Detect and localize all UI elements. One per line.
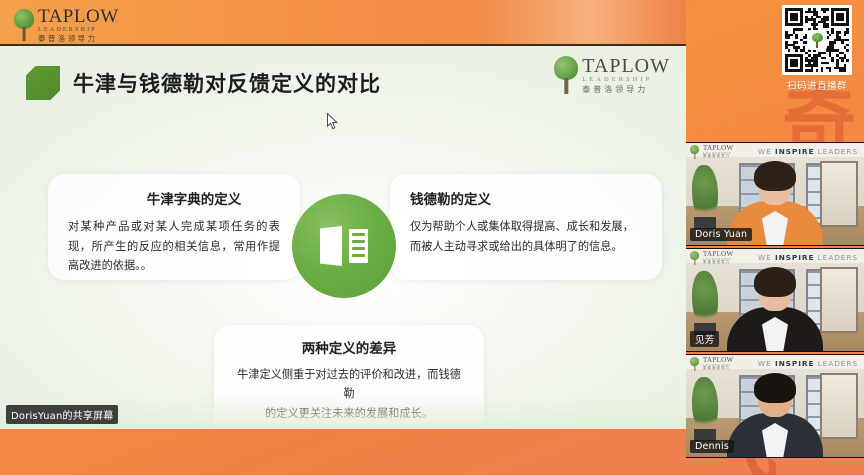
shared-screen-area[interactable]: 牛津与钱德勒对反馈定义的对比 TAPLOW LEADERSHIP 泰普洛领导力 … bbox=[0, 46, 686, 429]
brand-name-cn: 泰普洛领导力 bbox=[703, 261, 733, 264]
video-tile-dennis[interactable]: TAPLOW LEADERSHIP 泰普洛领导力 WE INSPIRE LEAD… bbox=[686, 354, 864, 458]
participant-name-label: Doris Yuan bbox=[690, 228, 752, 241]
participant-name-label: 见芳 bbox=[690, 331, 719, 347]
taplow-logo-header: TAPLOW LEADERSHIP 泰普洛领导力 bbox=[14, 7, 119, 43]
video-tagline: WE INSPIRE LEADERS bbox=[758, 359, 858, 368]
card-title: 两种定义的差异 bbox=[232, 337, 466, 357]
video-tagline: WE INSPIRE LEADERS bbox=[758, 147, 858, 156]
card-body-line: 钱德勒的定义更强调反馈的积极主动性和对个人 bbox=[232, 423, 466, 429]
tree-icon bbox=[690, 251, 699, 265]
participant-video-strip[interactable]: TAPLOW LEADERSHIP 泰普洛领导力 WE INSPIRE LEAD… bbox=[686, 0, 864, 475]
tree-icon bbox=[690, 357, 699, 371]
tagline-suffix: LEADERS bbox=[818, 359, 858, 368]
slide-title: 牛津与钱德勒对反馈定义的对比 bbox=[73, 68, 381, 98]
tagline-main: INSPIRE bbox=[775, 147, 814, 156]
tree-icon bbox=[690, 145, 699, 159]
tagline-suffix: LEADERS bbox=[818, 253, 858, 262]
card-body-line: 的定义更关注未来的发展和成长。 bbox=[232, 404, 466, 423]
tree-icon bbox=[554, 56, 578, 94]
brand-subtitle: LEADERSHIP bbox=[38, 27, 119, 33]
tree-icon bbox=[14, 9, 34, 41]
participant-figure bbox=[727, 271, 823, 351]
taplow-logo-video: TAPLOW LEADERSHIP 泰普洛领导力 bbox=[690, 145, 733, 159]
tagline-suffix: LEADERS bbox=[818, 147, 858, 156]
video-tagline: WE INSPIRE LEADERS bbox=[758, 253, 858, 262]
tagline-prefix: WE bbox=[758, 253, 772, 262]
slide-title-row: 牛津与钱德勒对反馈定义的对比 bbox=[26, 66, 381, 100]
zoom-meeting-window: 奇 飞 TAPLOW LEADERSHIP 泰普洛领导力 扫码进直播群 牛津与钱 bbox=[0, 0, 864, 475]
card-body: 对某种产品或对某人完成某项任务的表现，所产生的反应的相关信息，常用作提高改进的依… bbox=[68, 217, 280, 276]
brand-name-cn: 泰普洛领导力 bbox=[582, 86, 670, 94]
taplow-logo-video: TAPLOW LEADERSHIP 泰普洛领导力 bbox=[690, 251, 733, 265]
brand-name-cn: 泰普洛领导力 bbox=[703, 155, 733, 158]
card-title: 钱德勒的定义 bbox=[410, 188, 642, 208]
brand-name: TAPLOW bbox=[38, 7, 119, 26]
card-chandler-definition: 钱德勒的定义 仅为帮助个人或集体取得提高、成长和发展，而被人主动寻求或给出的具体… bbox=[390, 174, 662, 280]
tagline-main: INSPIRE bbox=[775, 253, 814, 262]
presentation-slide: 牛津与钱德勒对反馈定义的对比 TAPLOW LEADERSHIP 泰普洛领导力 … bbox=[0, 46, 686, 429]
card-oxford-definition: 牛津字典的定义 对某种产品或对某人完成某项任务的表现，所产生的反应的相关信息，常… bbox=[48, 174, 300, 280]
taplow-logo-slide: TAPLOW LEADERSHIP 泰普洛领导力 bbox=[554, 56, 670, 94]
brand-name-cn: 泰普洛领导力 bbox=[38, 35, 119, 43]
brand-subtitle: LEADERSHIP bbox=[582, 77, 670, 83]
brand-name-cn: 泰普洛领导力 bbox=[703, 367, 733, 370]
hexagon-bullet-icon bbox=[26, 66, 60, 100]
tagline-prefix: WE bbox=[758, 147, 772, 156]
card-body: 仅为帮助个人或集体取得提高、成长和发展，而被人主动寻求或给出的具体明了的信息。 bbox=[410, 217, 642, 256]
participant-name-label: Dennis bbox=[690, 440, 734, 453]
tagline-prefix: WE bbox=[758, 359, 772, 368]
tagline-main: INSPIRE bbox=[775, 359, 814, 368]
card-body: 牛津定义侧重于对过去的评价和改进，而钱德勒 的定义更关注未来的发展和成长。 钱德… bbox=[232, 365, 466, 429]
taplow-logo-video: TAPLOW LEADERSHIP 泰普洛领导力 bbox=[690, 357, 733, 371]
video-tile-jianfang[interactable]: TAPLOW LEADERSHIP 泰普洛领导力 WE INSPIRE LEAD… bbox=[686, 248, 864, 352]
screen-share-label: DorisYuan的共享屏幕 bbox=[6, 405, 118, 424]
card-difference: 两种定义的差异 牛津定义侧重于对过去的评价和改进，而钱德勒 的定义更关注未来的发… bbox=[214, 325, 484, 429]
video-tile-doris-yuan[interactable]: TAPLOW LEADERSHIP 泰普洛领导力 WE INSPIRE LEAD… bbox=[686, 142, 864, 246]
participant-figure bbox=[727, 377, 823, 457]
presentation-document-icon bbox=[292, 194, 396, 298]
card-title: 牛津字典的定义 bbox=[108, 188, 280, 208]
card-body-line: 牛津定义侧重于对过去的评价和改进，而钱德勒 bbox=[232, 365, 466, 404]
header-sheen bbox=[476, 0, 686, 44]
brand-name: TAPLOW bbox=[582, 56, 670, 76]
